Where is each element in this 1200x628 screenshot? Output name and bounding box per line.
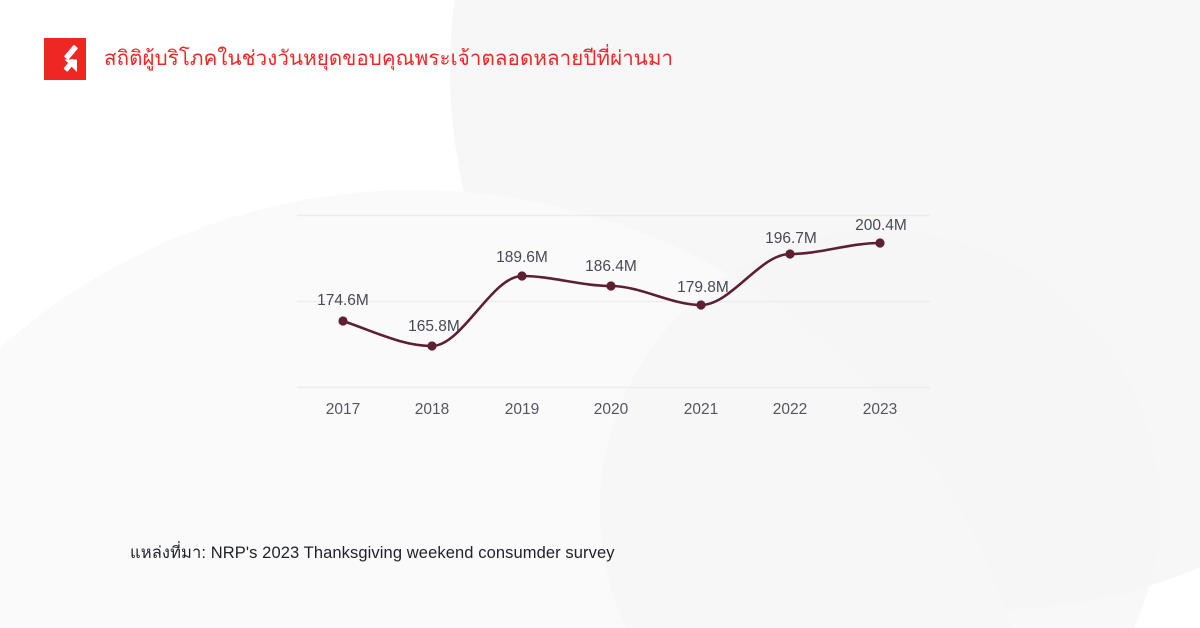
page-title: สถิติผู้บริโภคในช่วงวันหยุดขอบคุณพระเจ้า… [104, 46, 673, 72]
x-axis-tick: 2019 [505, 401, 539, 418]
chart-value-labels: 174.6M 165.8M 189.6M 186.4M 179.8M 196.7… [317, 217, 907, 335]
pen-square-logo-icon [44, 38, 86, 80]
source-caption: แหล่งที่มา: NRP's 2023 Thanksgiving week… [130, 540, 615, 566]
value-label: 174.6M [317, 292, 369, 309]
data-point [606, 281, 615, 290]
value-label: 200.4M [855, 217, 907, 234]
value-label: 165.8M [408, 318, 460, 335]
line-chart: 174.6M 165.8M 189.6M 186.4M 179.8M 196.7… [0, 0, 1200, 628]
data-point [875, 238, 884, 247]
value-label: 179.8M [677, 279, 729, 296]
data-point [517, 271, 526, 280]
data-point [338, 316, 347, 325]
x-axis-tick: 2020 [594, 401, 629, 418]
value-label: 196.7M [765, 230, 817, 247]
data-point [427, 341, 436, 350]
value-label: 186.4M [585, 258, 637, 275]
chart-gridlines [297, 216, 930, 388]
header: สถิติผู้บริโภคในช่วงวันหยุดขอบคุณพระเจ้า… [44, 38, 673, 80]
x-axis-tick: 2017 [326, 401, 360, 418]
x-axis-tick: 2018 [415, 401, 449, 418]
x-axis-tick: 2023 [863, 401, 897, 418]
data-point [696, 300, 705, 309]
chart-x-axis-labels: 2017 2018 2019 2020 2021 2022 2023 [326, 401, 897, 418]
x-axis-tick: 2022 [773, 401, 807, 418]
value-label: 189.6M [496, 249, 548, 266]
x-axis-tick: 2021 [684, 401, 718, 418]
data-point [785, 249, 794, 258]
